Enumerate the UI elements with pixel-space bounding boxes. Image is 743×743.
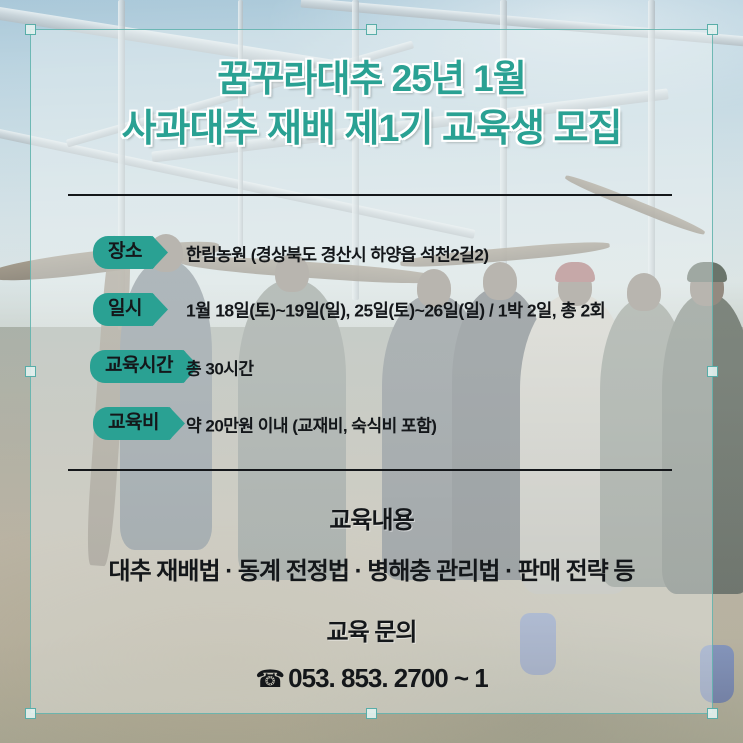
info-row-place: 장소 한림농원 (경상북도 경산시 하양읍 석천2길2): [0, 224, 743, 281]
info-label-wrap-fee: 교육비: [93, 407, 172, 441]
info-label-fee: 교육비: [93, 407, 172, 441]
contact-phone-number[interactable]: 053. 853. 2700 ~ 1: [288, 663, 488, 693]
poster-content: 꿈꾸라대추 25년 1월 사과대추 재배 제1기 교육생 모집 장소 한림농원 …: [0, 0, 743, 743]
info-value-place: 한림농원 (경상북도 경산시 하양읍 석천2길2): [186, 240, 489, 265]
info-label-hours: 교육시간: [90, 350, 186, 384]
divider-top: [68, 194, 672, 196]
info-label-wrap-place: 장소: [93, 236, 155, 270]
info-rows: 장소 한림농원 (경상북도 경산시 하양읍 석천2길2) 일시 1월 18일(토…: [0, 224, 743, 452]
info-value-hours: 총 30시간: [186, 354, 254, 379]
title-line-2: 사과대추 재배 제1기 교육생 모집: [0, 107, 743, 151]
info-row-fee: 교육비 약 20만원 이내 (교재비, 숙식비 포함): [0, 395, 743, 452]
telephone-icon: ☎: [255, 666, 284, 693]
info-value-fee: 약 20만원 이내 (교재비, 숙식비 포함): [186, 411, 436, 436]
info-value-date: 1월 18일(토)~19일(일), 25일(토)~26일(일) / 1박 2일,…: [186, 297, 605, 322]
curriculum-body: 대추 재배법 · 동계 전정법 · 병해충 관리법 · 판매 전략 등: [0, 551, 743, 586]
title-line-1: 꿈꾸라대추 25년 1월: [0, 58, 743, 101]
info-row-date: 일시 1월 18일(토)~19일(일), 25일(토)~26일(일) / 1박 …: [0, 281, 743, 338]
info-label-date: 일시: [93, 293, 155, 327]
contact-section: 교육 문의 ☎053. 853. 2700 ~ 1: [0, 612, 743, 694]
poster-title-block: 꿈꾸라대추 25년 1월 사과대추 재배 제1기 교육생 모집: [0, 58, 743, 151]
info-row-hours: 교육시간 총 30시간: [0, 338, 743, 395]
contact-heading: 교육 문의: [0, 612, 743, 647]
curriculum-section: 교육내용 대추 재배법 · 동계 전정법 · 병해충 관리법 · 판매 전략 등: [0, 500, 743, 586]
poster-root: 꿈꾸라대추 25년 1월 사과대추 재배 제1기 교육생 모집 장소 한림농원 …: [0, 0, 743, 743]
info-label-wrap-date: 일시: [93, 293, 155, 327]
divider-bottom: [68, 469, 672, 471]
info-label-place: 장소: [93, 236, 155, 270]
curriculum-heading: 교육내용: [0, 500, 743, 535]
contact-phone-line: ☎053. 853. 2700 ~ 1: [0, 663, 743, 694]
info-label-wrap-hours: 교육시간: [90, 350, 186, 384]
